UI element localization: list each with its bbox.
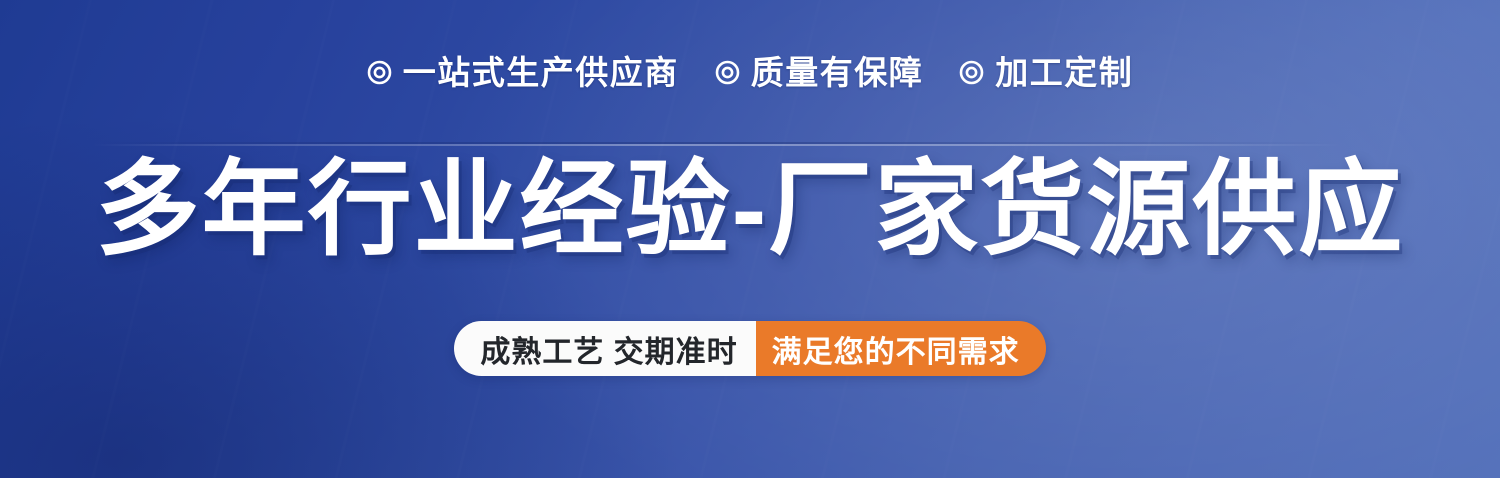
tagline-pill-right-segment: 满足您的不同需求 (756, 321, 1046, 376)
feature-label: 加工定制 (995, 56, 1133, 89)
feature-label: 一站式生产供应商 (403, 56, 679, 89)
tagline-pill: 成熟工艺 交期准时 满足您的不同需求 (454, 321, 1045, 376)
feature-item-quality-guaranteed: 质量有保障 (715, 56, 924, 89)
tagline-pill-left-segment: 成熟工艺 交期准时 (454, 321, 755, 376)
feature-label: 质量有保障 (751, 56, 924, 89)
feature-item-custom-processing: 加工定制 (959, 56, 1133, 89)
headline-title: 多年行业经验-厂家货源供应 (0, 158, 1500, 262)
double-circle-icon (367, 60, 392, 85)
tagline-pill-wrapper: 成熟工艺 交期准时 满足您的不同需求 (0, 321, 1500, 376)
double-circle-icon (715, 60, 740, 85)
feature-item-one-stop-supplier: 一站式生产供应商 (367, 56, 679, 89)
double-circle-icon (959, 60, 984, 85)
feature-row: 一站式生产供应商 质量有保障 加工定制 (0, 56, 1500, 89)
banner-content: 一站式生产供应商 质量有保障 加工定制 (0, 0, 1500, 478)
promo-banner: 一站式生产供应商 质量有保障 加工定制 (0, 0, 1500, 478)
